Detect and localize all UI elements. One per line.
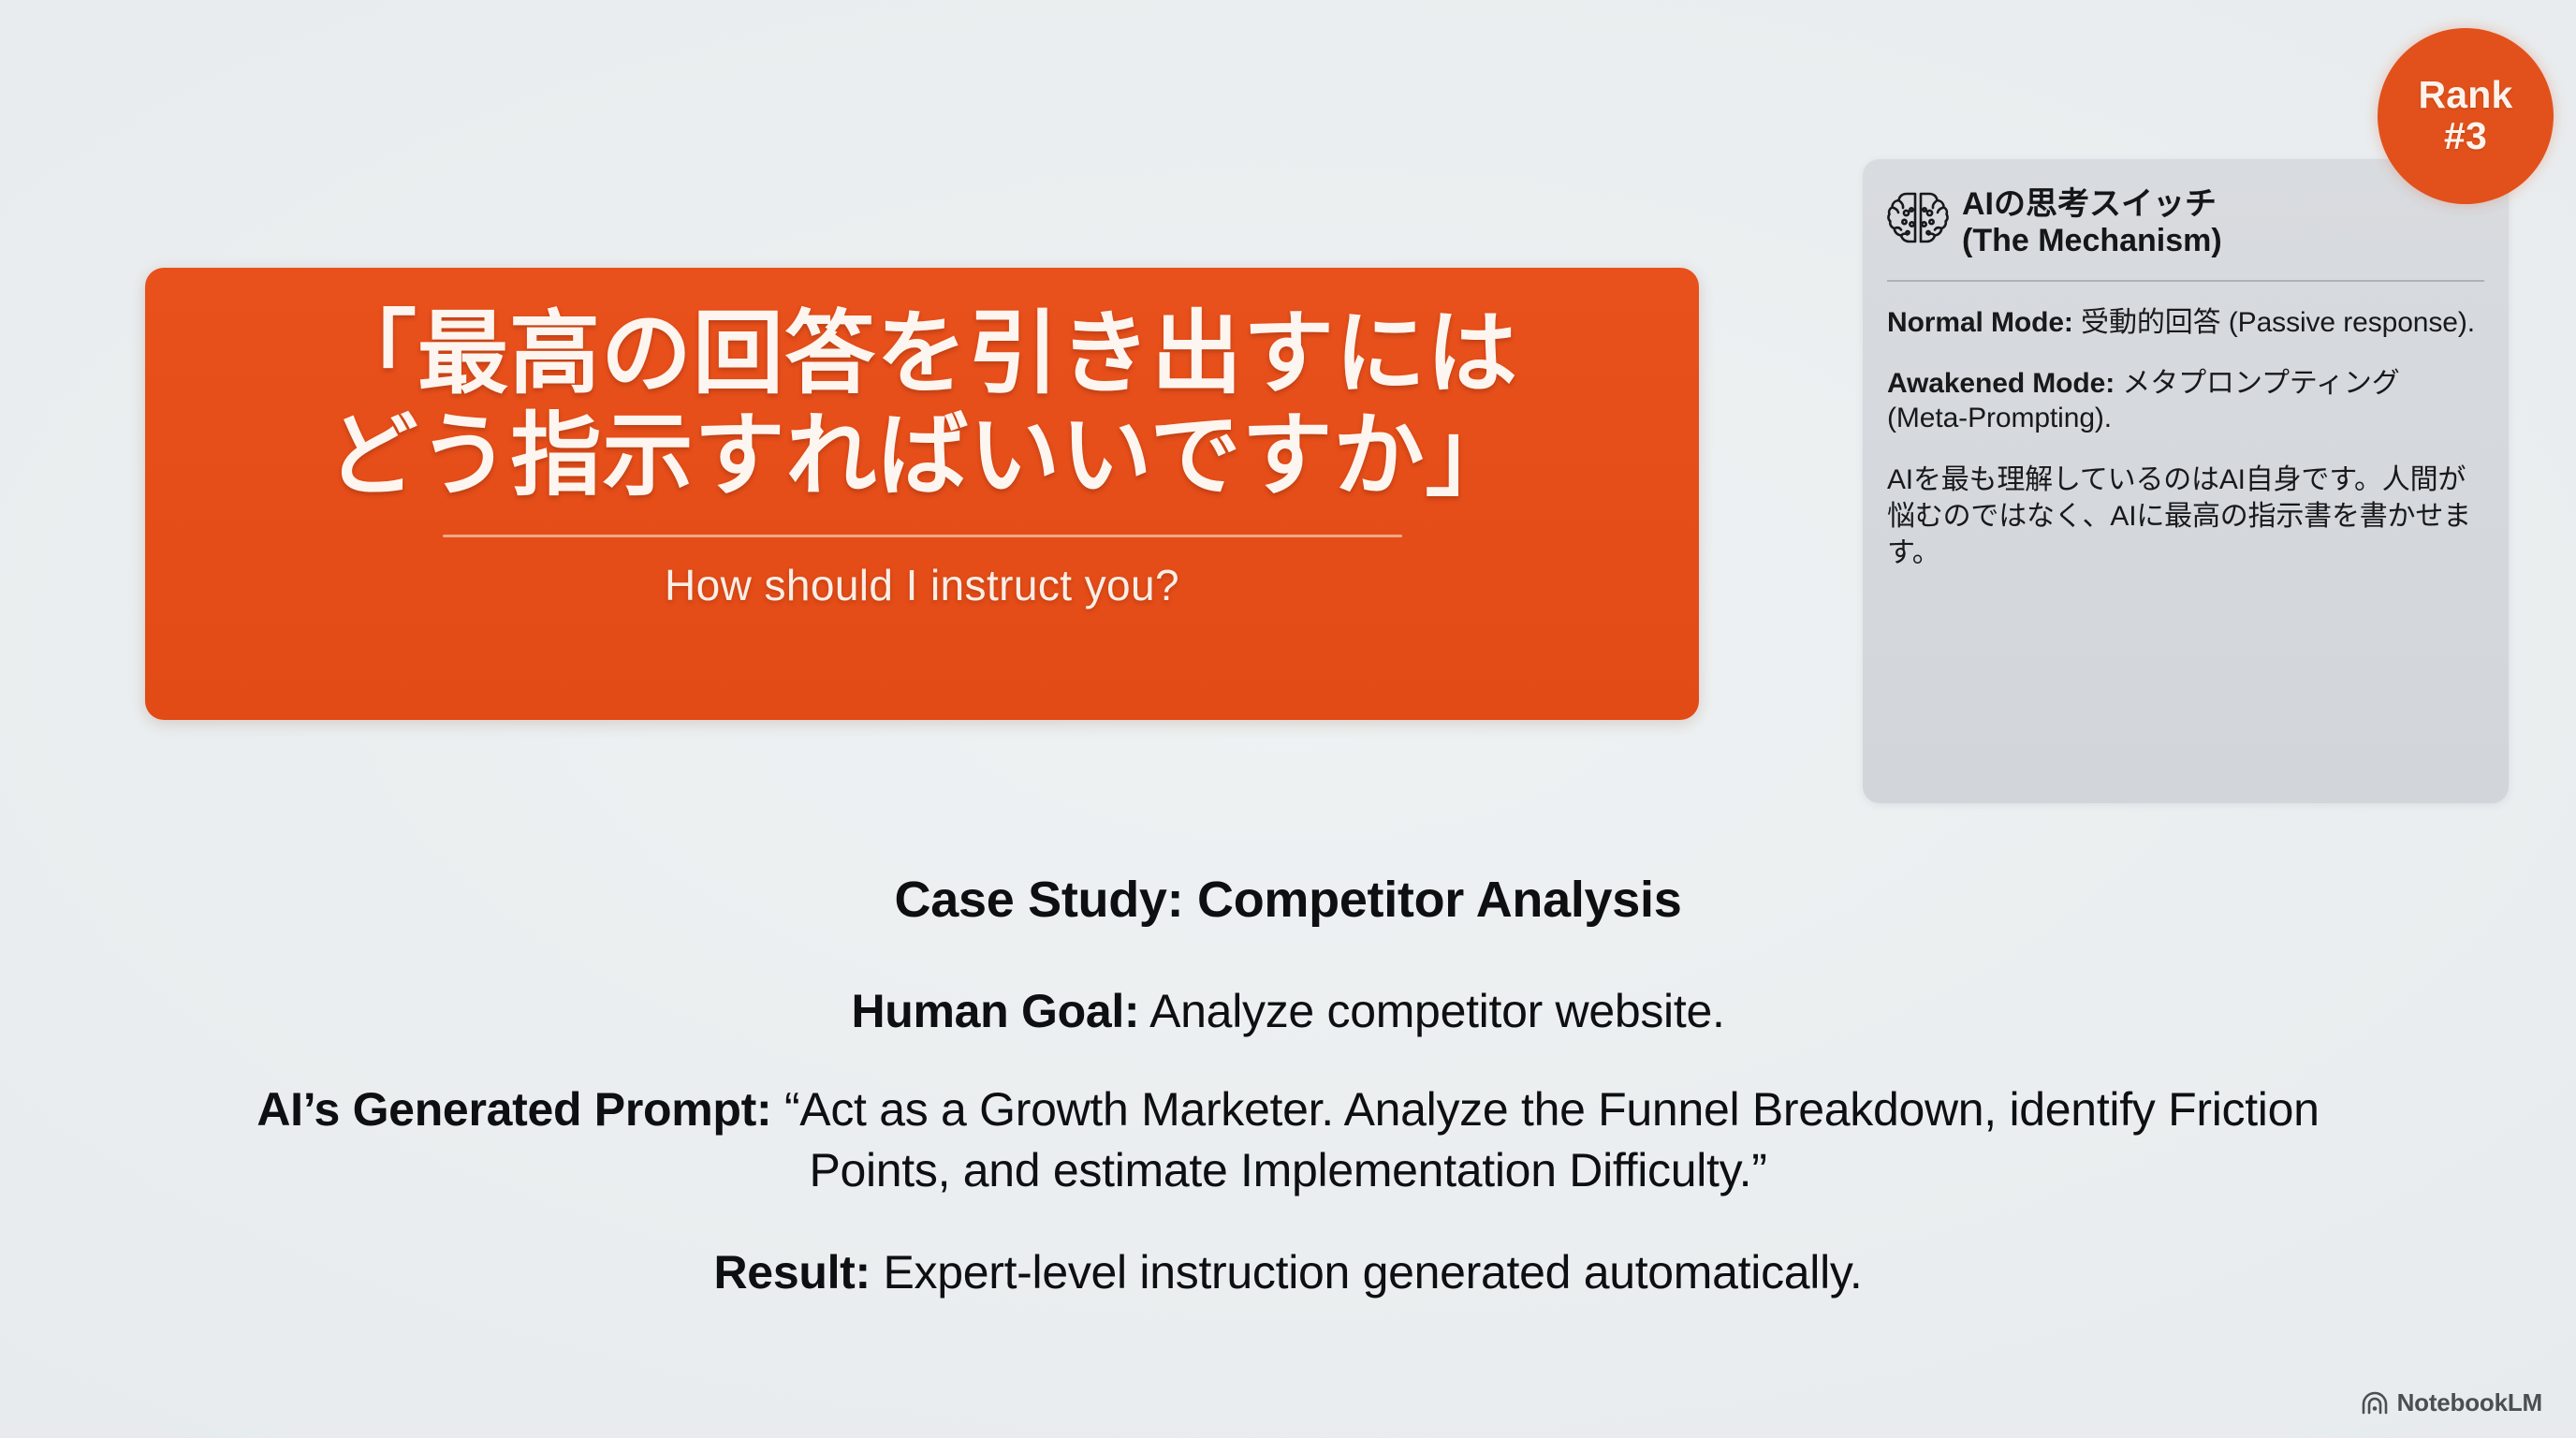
notebooklm-watermark: NotebookLM xyxy=(2361,1388,2542,1417)
slide-canvas: Rank #3 「最高の回答を引き出すには どう指示すればいいですか」 How … xyxy=(0,0,2576,1438)
mechanism-card-title: AIの思考スイッチ (The Mechanism) xyxy=(1962,184,2222,259)
headline-banner: 「最高の回答を引き出すには どう指示すればいいですか」 How should I… xyxy=(145,268,1699,720)
normal-mode-text: 受動的回答 (Passive response). xyxy=(2073,307,2475,338)
headline-line-1: 「最高の回答を引き出すには xyxy=(326,303,1518,405)
human-goal-block: Human Goal: Analyze competitor website. xyxy=(0,981,2576,1042)
generated-prompt-block: AI’s Generated Prompt: “Act as a Growth … xyxy=(0,1079,2576,1201)
mechanism-item-awakened-mode: Awakened Mode: メタプロンプティング (Meta-Promptin… xyxy=(1887,366,2484,435)
mechanism-card: AIの思考スイッチ (The Mechanism) Normal Mode: 受… xyxy=(1863,159,2509,803)
body-copy: Case Study: Competitor Analysis Human Go… xyxy=(0,871,2576,1303)
brain-icon xyxy=(1887,188,1949,246)
headline-line-2: どう指示すればいいですか」 xyxy=(327,405,1516,507)
rank-badge-value: #3 xyxy=(2444,116,2487,157)
result-label: Result: xyxy=(714,1246,871,1299)
human-goal-text: Analyze competitor website. xyxy=(1139,985,1724,1037)
case-study-heading: Case Study: Competitor Analysis xyxy=(0,871,2576,929)
headline-subtitle: How should I instruct you? xyxy=(665,560,1179,610)
awakened-mode-label: Awakened Mode: xyxy=(1887,368,2115,399)
mechanism-card-divider xyxy=(1887,280,2484,282)
generated-prompt-label: AI’s Generated Prompt: xyxy=(256,1083,771,1136)
mechanism-item-normal-mode: Normal Mode: 受動的回答 (Passive response). xyxy=(1887,305,2484,340)
rank-badge-label: Rank xyxy=(2418,75,2512,116)
rank-badge: Rank #3 xyxy=(2378,28,2554,204)
notebooklm-icon xyxy=(2361,1389,2389,1417)
result-block: Result: Expert-level instruction generat… xyxy=(0,1242,2576,1303)
normal-mode-label: Normal Mode: xyxy=(1887,307,2073,338)
headline-divider xyxy=(443,535,1402,537)
notebooklm-label: NotebookLM xyxy=(2397,1388,2542,1417)
mechanism-card-note: AIを最も理解しているのはAI自身です。人間が悩むのではなく、AIに最高の指示書… xyxy=(1887,462,2484,571)
result-text: Expert-level instruction generated autom… xyxy=(871,1246,1863,1299)
human-goal-label: Human Goal: xyxy=(851,985,1139,1037)
mechanism-card-header: AIの思考スイッチ (The Mechanism) xyxy=(1887,184,2484,259)
generated-prompt-text: “Act as a Growth Marketer. Analyze the F… xyxy=(771,1083,2319,1196)
card-title-line-2: (The Mechanism) xyxy=(1962,223,2222,259)
card-title-line-1: AIの思考スイッチ xyxy=(1962,186,2222,223)
